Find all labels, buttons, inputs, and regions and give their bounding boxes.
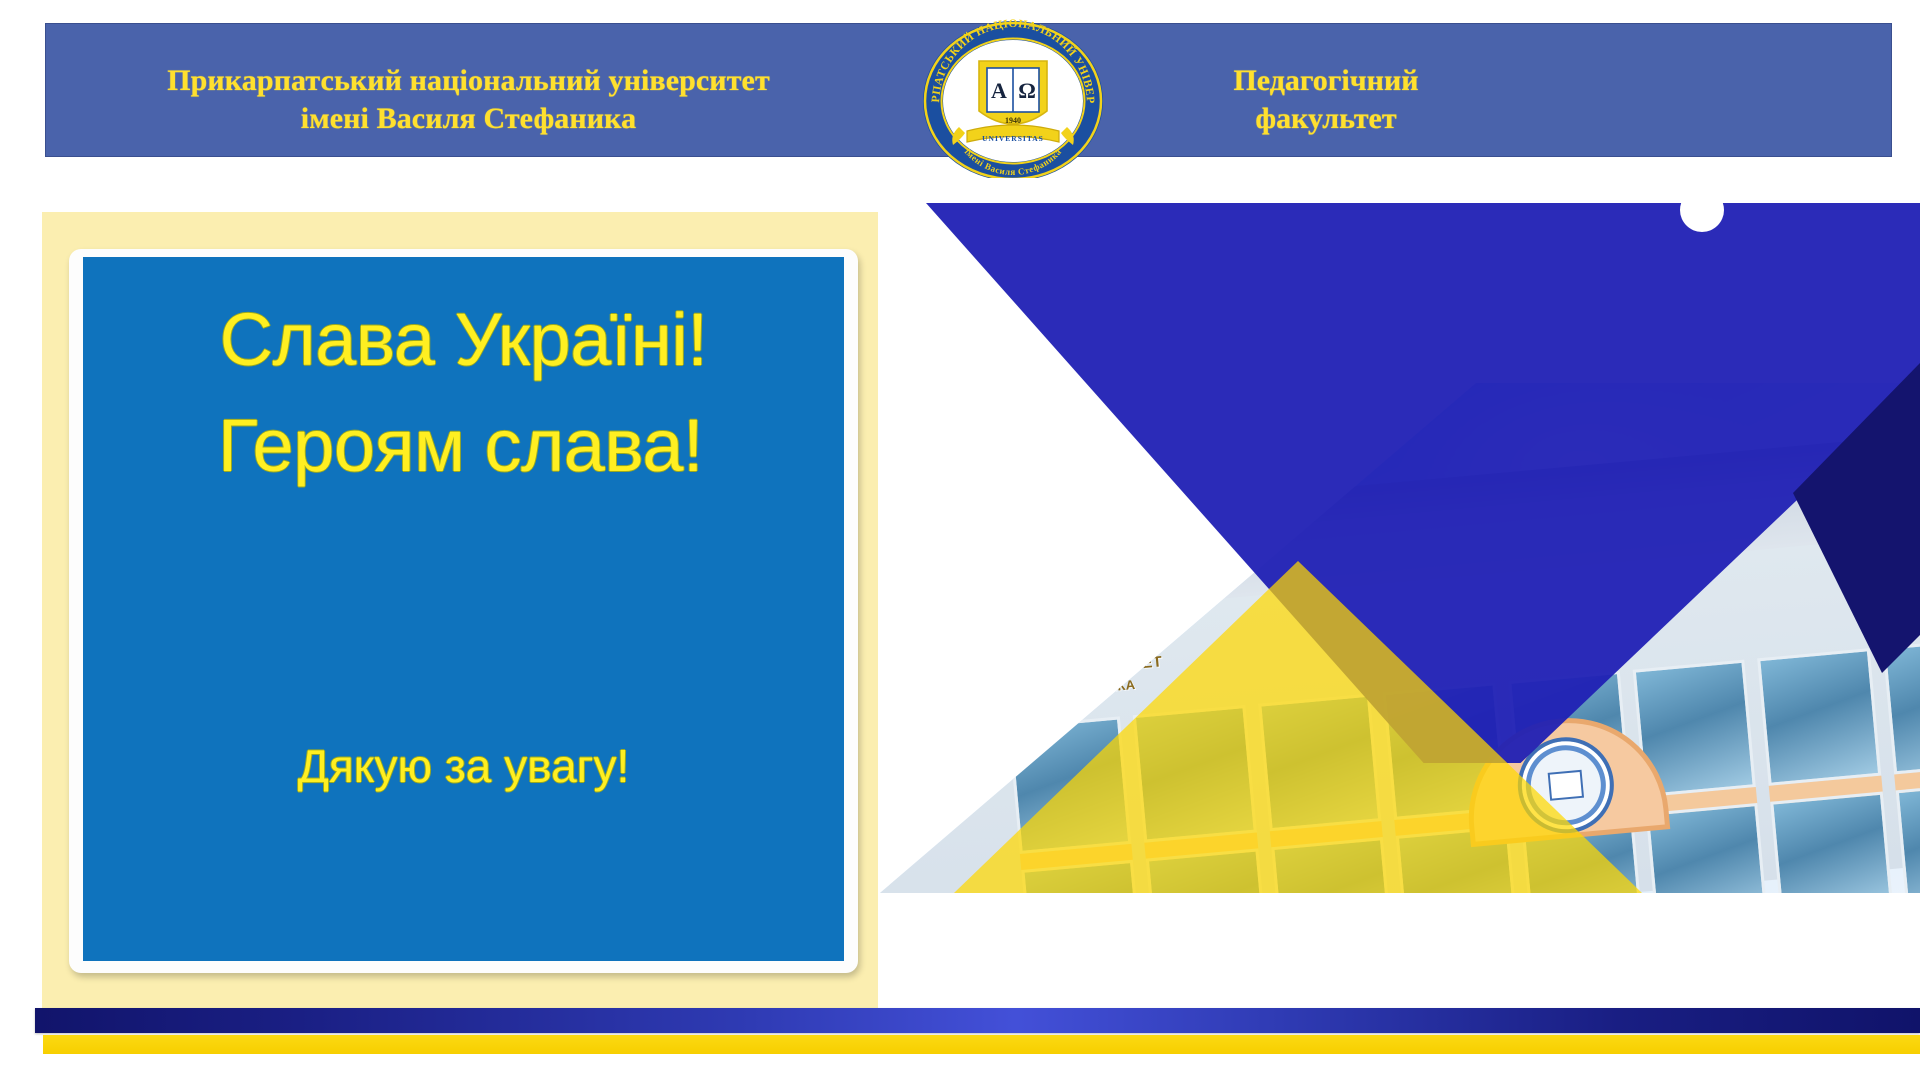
svg-text:A: A <box>991 78 1007 103</box>
university-name-line1: Прикарпатський національний університет <box>167 64 770 97</box>
svg-text:UNIVERSITAS: UNIVERSITAS <box>982 134 1044 143</box>
slogan-line2: Героям слава! <box>77 393 844 499</box>
campus-artwork: ПРИКАРПАТСЬКИЙ НАЦІОНАЛЬНИЙ УНІВЕРСИТЕТ … <box>880 203 1920 1008</box>
window <box>1757 648 1881 786</box>
svg-text:Ω: Ω <box>1018 78 1036 103</box>
slogan-line1: Слава Україні! <box>83 287 844 393</box>
faculty-name: Педагогічний факультет <box>1116 62 1536 139</box>
window <box>1770 792 1892 893</box>
footer-decoration <box>35 1008 1920 1054</box>
slogan-text: Слава Україні! Героям слава! <box>83 287 844 499</box>
faculty-name-line2: факультет <box>1255 102 1396 135</box>
university-name: Прикарпатський національний університет … <box>46 62 891 139</box>
footer-blue-bar <box>35 1008 1920 1033</box>
faculty-name-line1: Педагогічний <box>1233 64 1418 97</box>
footer-yellow-bar <box>43 1035 1920 1054</box>
university-name-line2: імені Василя Стефаника <box>301 102 636 135</box>
artwork-bottom-mask <box>880 893 1920 1008</box>
thanks-text: Дякую за увагу! <box>83 739 844 793</box>
window <box>1895 780 1920 893</box>
slide-root: Прикарпатський національний університет … <box>0 0 1920 1080</box>
svg-text:1940: 1940 <box>1005 116 1021 125</box>
slogan-board: Слава Україні! Героям слава! Дякую за ув… <box>83 257 844 961</box>
university-emblem-icon: ПРИКАРПАТСЬКИЙ НАЦІОНАЛЬНИЙ УНІВЕРСИТЕТ … <box>919 13 1107 178</box>
